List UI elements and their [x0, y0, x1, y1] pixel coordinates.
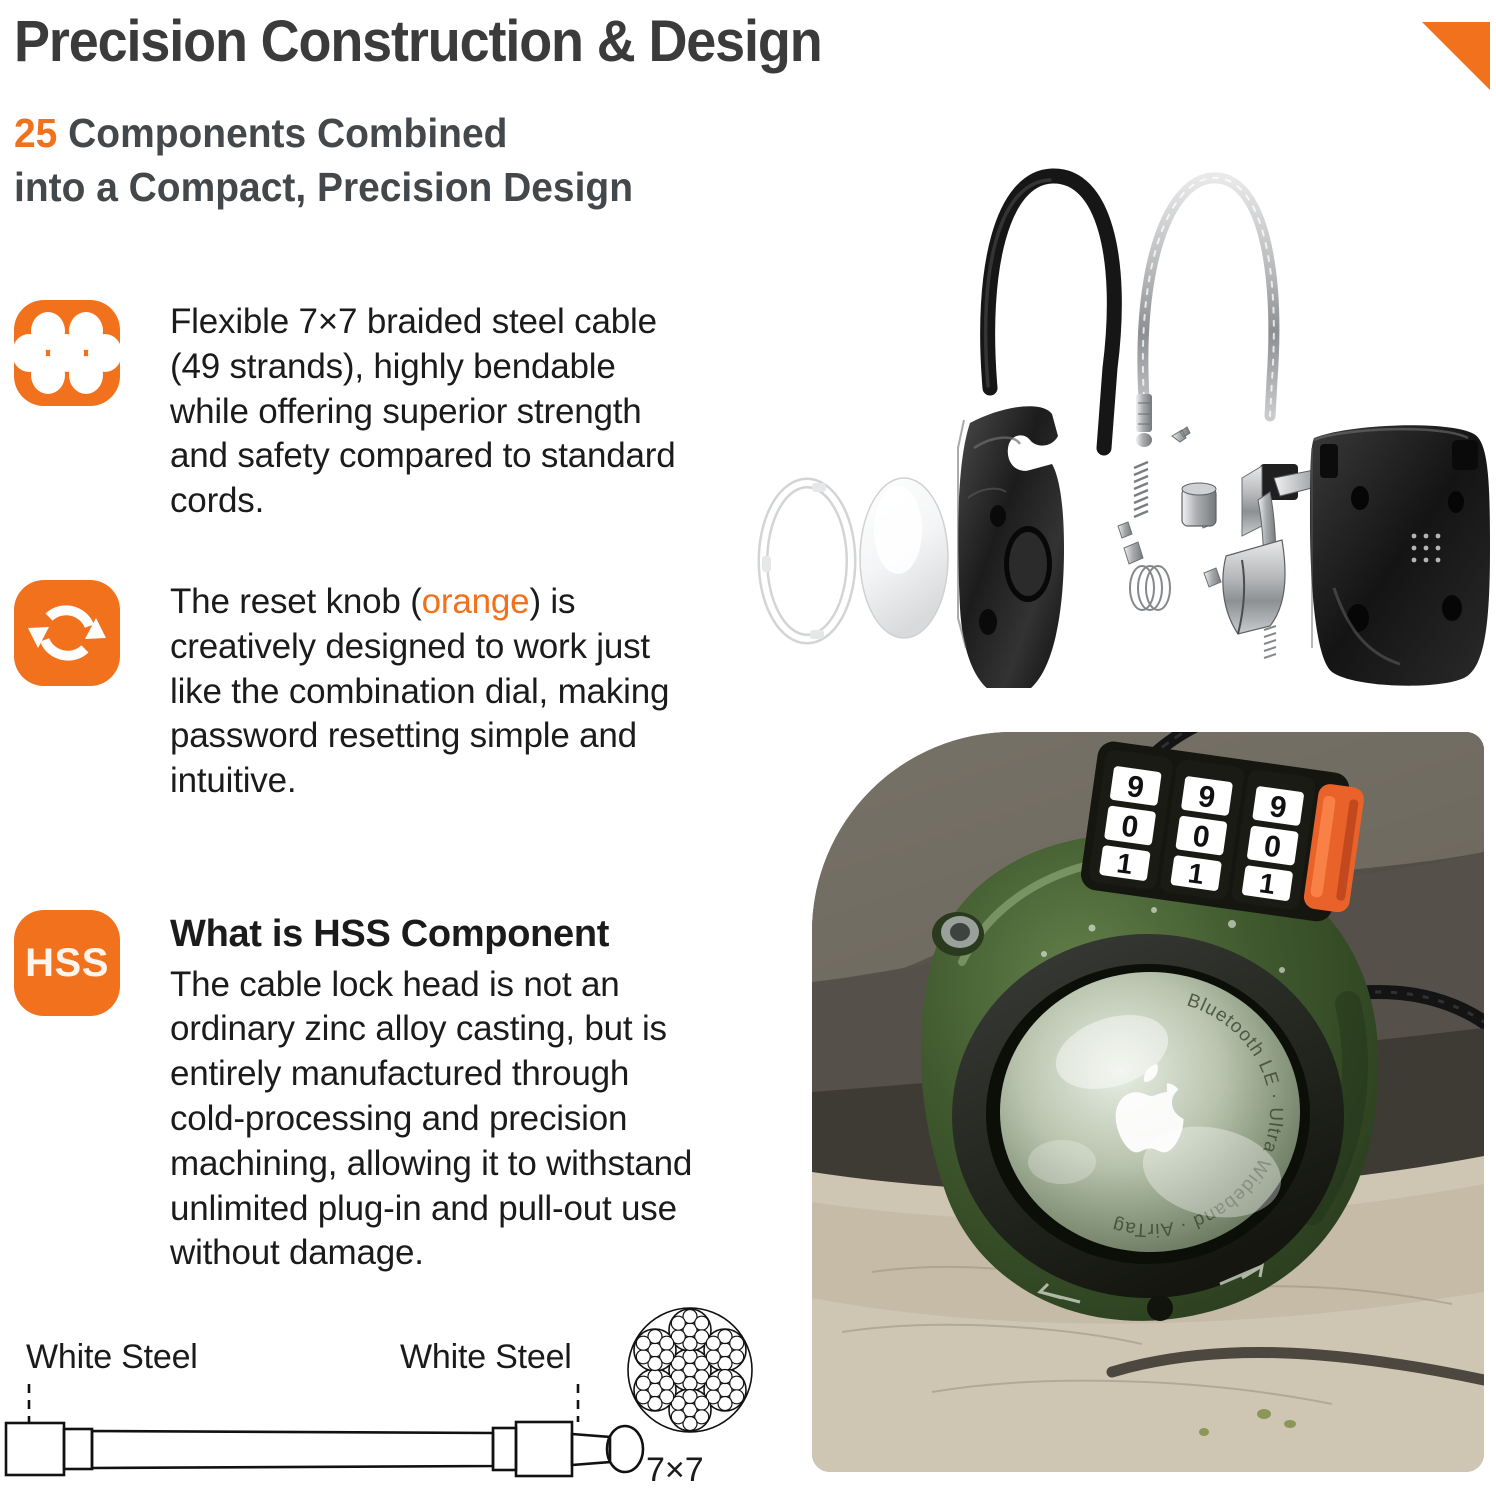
green-cable-lock-photo: 9 0 1 9 0 1 — [812, 732, 1484, 1472]
cable-label-right: White Steel — [400, 1338, 572, 1377]
retaining-rings — [1130, 566, 1170, 610]
strand-circle — [31, 356, 65, 394]
orange-corner-triangle — [1422, 22, 1490, 90]
bare-steel-cable-loop — [1136, 178, 1274, 447]
cable-schematic: White Steel White Steel 7×7 — [0, 1300, 790, 1496]
feature-reset-highlight: orange — [422, 582, 530, 621]
subtitle-line2: into a Compact, Precision Design — [14, 164, 633, 210]
white-cover-disc — [860, 478, 948, 638]
feature-hss: HSS What is HSS Component The cable lock… — [14, 910, 700, 1276]
hss-badge-icon: HSS — [14, 910, 120, 1016]
feature-cable-text: Flexible 7×7 braided steel cable (49 str… — [170, 300, 700, 524]
exploded-parts-diagram: 9 0 1 9 0 1 9 0 1 — [752, 148, 1496, 688]
cable-label-left: White Steel — [26, 1338, 198, 1377]
component-count: 25 — [14, 110, 57, 156]
feature-reset-knob-text: The reset knob (orange) is creatively de… — [170, 580, 700, 804]
feature-hss-heading: What is HSS Component — [170, 910, 700, 959]
black-rear-housing — [1310, 425, 1490, 685]
small-clip — [1172, 427, 1190, 442]
feature-cable-body: Flexible 7×7 braided steel cable (49 str… — [170, 302, 676, 520]
feature-hss-body: The cable lock head is not an ordinary z… — [170, 965, 692, 1273]
feature-cable: Flexible 7×7 braided steel cable (49 str… — [14, 300, 700, 524]
hss-badge-label: HSS — [25, 941, 109, 986]
page-subtitle: 25 Components Combined into a Compact, P… — [14, 106, 633, 214]
white-trim-ring — [762, 483, 851, 639]
small-pin-b — [1124, 542, 1143, 564]
coil-spring — [1134, 462, 1148, 517]
strand-circle — [69, 356, 103, 394]
feature-hss-text: What is HSS Component The cable lock hea… — [170, 910, 700, 1276]
metal-sleeve — [1182, 483, 1216, 526]
refresh-arrows-icon — [14, 580, 120, 686]
infographic-page: Precision Construction & Design 25 Compo… — [0, 0, 1496, 1496]
black-front-housing — [958, 406, 1064, 688]
feature-reset-knob: The reset knob (orange) is creatively de… — [14, 580, 700, 804]
cross-section-glyph — [628, 1308, 752, 1432]
small-pin-c — [1204, 568, 1221, 587]
cable-cross-section-icon — [14, 300, 120, 406]
page-title: Precision Construction & Design — [14, 8, 822, 75]
subtitle-line1-rest: Components Combined — [57, 110, 507, 156]
small-pin-a — [1118, 522, 1132, 538]
cross-section-label: 7×7 — [646, 1451, 704, 1490]
black-cable-loop — [986, 176, 1115, 448]
feature-reset-body-pre: The reset knob ( — [170, 582, 422, 621]
